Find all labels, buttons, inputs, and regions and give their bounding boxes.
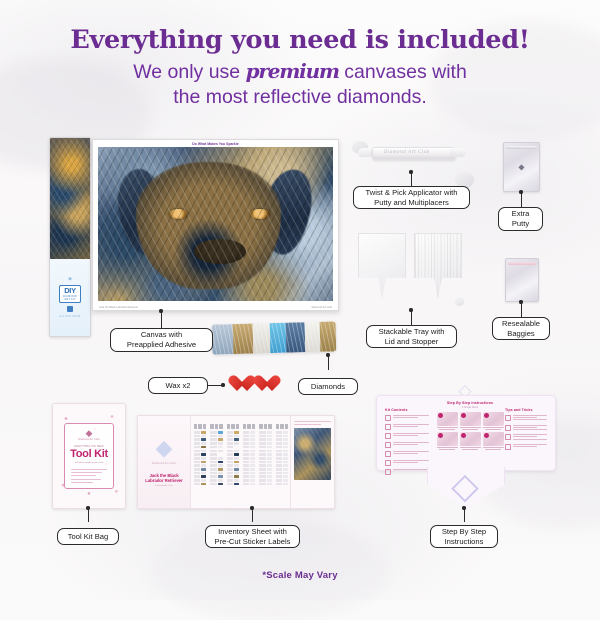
diamond-color-segment: [286, 322, 305, 352]
inventory-left-panel: ◆ Diamond Art Club Jack the Black Labrad…: [138, 416, 191, 508]
diamond-color-segment: [305, 322, 321, 352]
leader-line: [411, 172, 412, 186]
callout-canvas-adhesive[interactable]: Canvas with Preapplied Adhesive: [110, 328, 213, 352]
tool-kit-bag: ◆ Diamond Art Club EVERYTHING YOU NEED T…: [52, 403, 126, 509]
steps-column: Step By Step Instructions 6 Simple Steps: [435, 401, 505, 450]
leader-dot: [519, 190, 523, 194]
toolkit-brand: Diamond Art Club: [78, 439, 99, 441]
tip-item: [505, 434, 547, 441]
stackable-tray-lid: [358, 233, 406, 299]
leader-line: [88, 508, 89, 522]
leader-dot: [462, 506, 466, 510]
box-square-mark: [67, 306, 73, 312]
leader-dot: [221, 383, 225, 387]
tips-column: Tips and Tricks: [505, 408, 547, 450]
subheadline-text-after: canvases with: [339, 61, 467, 83]
toolkit-label: ◆ Diamond Art Club EVERYTHING YOU NEED T…: [64, 423, 114, 489]
diamond-color-segment: [212, 324, 234, 355]
canvas-footer-left: Jack the Black Labrador Retriever: [99, 306, 138, 309]
inventory-color-grid: [194, 424, 288, 502]
inventory-brand: Diamond Art Club: [152, 462, 176, 465]
step-item: [483, 412, 504, 430]
baggie-zip-seal: [508, 262, 536, 265]
tip-item: [505, 425, 547, 432]
inventory-column: [276, 424, 288, 502]
dog-eye-left: [169, 209, 189, 220]
tray-stopper: [455, 297, 464, 306]
canvas-footer-right: Diamond Art Club: [312, 306, 332, 309]
toolkit-text-lines: [71, 469, 107, 485]
kit-contents-item: [385, 442, 429, 448]
tray-grooved-body: [414, 233, 462, 299]
kit-contents-item: [385, 415, 429, 421]
callout-stackable-tray[interactable]: Stackable Tray with Lid and Stopper: [366, 325, 457, 348]
box-artwork: [50, 138, 90, 259]
baggie-zip-seal: [506, 146, 537, 149]
step-item: [460, 432, 481, 450]
leader-dot: [409, 308, 413, 312]
leader-line: [521, 302, 522, 317]
kit-contents-item: [385, 433, 429, 439]
subheadline-script-word: premium: [246, 60, 339, 84]
subheadline-line-1: We only use premium canvases with: [0, 60, 600, 84]
callout-tool-kit-bag[interactable]: Tool Kit Bag: [57, 528, 119, 545]
callout-diamonds[interactable]: Diamonds: [298, 378, 358, 395]
inventory-column: [243, 424, 255, 502]
leader-line: [521, 192, 522, 207]
dog-eye-right: [250, 209, 270, 220]
diamond-color-segment: [233, 324, 254, 355]
wax-heart-2: [253, 376, 272, 394]
inventory-artwork-sub: Diamond Art Club: [155, 485, 172, 487]
step-item: [460, 412, 481, 430]
step-item: [483, 432, 504, 450]
steps-title: Step By Step Instructions: [435, 401, 505, 405]
callout-resealable-baggies[interactable]: Resealable Baggies: [492, 317, 550, 340]
kit-contents-item: [385, 469, 429, 475]
diamond-color-segment: [270, 323, 287, 353]
extra-putty-baggie: ◆: [503, 142, 540, 192]
diamond-icon: ◆: [156, 437, 173, 459]
product-box-packaging: ◆ DIY DIAMOND ART KIT ALL INCLUSIVE: [49, 137, 91, 337]
box-brand-tiny: ALL INCLUSIVE: [59, 315, 80, 318]
steps-grid: [435, 412, 505, 450]
inventory-column: [210, 424, 222, 502]
diamond-icon: ◆: [86, 429, 93, 438]
callout-wax[interactable]: Wax x2: [148, 377, 208, 394]
inventory-column: [227, 424, 239, 502]
kit-contents-item: [385, 451, 429, 457]
scale-footnote: *Scale May Vary: [0, 570, 600, 581]
tips-title: Tips and Tricks: [505, 408, 547, 412]
diy-sub-2: ART KIT: [64, 298, 75, 301]
step-item: [437, 432, 458, 450]
leader-line: [161, 311, 162, 328]
diamond-color-segment: [253, 323, 271, 353]
diamond-icon: ◆: [68, 276, 72, 282]
kit-contents-title: Kit Contents: [385, 408, 429, 412]
instructions-sheet-body: Kit Contents Step By Step Instructions 6…: [376, 395, 556, 471]
tray-lid-body: [358, 233, 406, 299]
inventory-column: [259, 424, 271, 502]
tip-item: [505, 415, 547, 422]
kit-contents-item: [385, 424, 429, 430]
callout-applicator[interactable]: Twist & Pick Applicator with Putty and M…: [353, 186, 470, 209]
leader-line: [252, 508, 253, 522]
leader-dot: [86, 506, 90, 510]
callout-extra-putty[interactable]: Extra Putty: [498, 207, 543, 231]
leader-dot: [409, 170, 413, 174]
diamond-color-segment: [319, 321, 336, 351]
canvas-footer: Jack the Black Labrador Retriever Diamon…: [99, 306, 332, 309]
twist-pick-applicator-pen: Diamond Art Club: [358, 145, 466, 160]
steps-subtitle: 6 Simple Steps: [435, 406, 505, 409]
dog-face: [136, 162, 282, 288]
diamond-icon: ◆: [518, 163, 524, 172]
toolkit-title: Tool Kit: [70, 449, 108, 460]
dog-snout: [194, 239, 246, 264]
leader-line: [328, 355, 329, 370]
canvas-artwork-labrador: [98, 147, 333, 301]
inventory-column: [194, 424, 206, 502]
leader-dot: [326, 353, 330, 357]
box-label: ◆ DIY DIAMOND ART KIT ALL INCLUSIVE: [50, 259, 90, 336]
diamonds-drill-bag: [212, 321, 337, 354]
diamond-painting-canvas: Do What Makes You Sparkle Jack the Black…: [92, 139, 339, 311]
leader-dot: [519, 300, 523, 304]
subheadline-text-before: We only use: [133, 61, 245, 83]
callout-inventory-sheet[interactable]: Inventory Sheet with Pre-Cut Sticker Lab…: [205, 525, 300, 548]
pen-brand-script: Diamond Art Club: [384, 150, 430, 155]
leader-dot: [250, 506, 254, 510]
page-headline: Everything you need is included!: [0, 25, 600, 55]
tip-item: [505, 444, 547, 450]
canvas-header-caption: Do What Makes You Sparkle: [93, 142, 338, 146]
dog-ear-left: [113, 166, 169, 258]
kit-contents-item: [385, 460, 429, 466]
dog-ear-right: [258, 166, 316, 258]
pen-tip-right: [450, 148, 466, 158]
leader-line: [464, 508, 465, 522]
inventory-sheet: ◆ Diamond Art Club Jack the Black Labrad…: [137, 415, 335, 509]
kit-contents-column: Kit Contents: [385, 408, 429, 475]
stackable-tray-grooved: [414, 233, 462, 299]
diamond-outline-icon: ◇: [442, 467, 488, 505]
inventory-artwork-thumbnail: [294, 428, 331, 480]
wax-heart-1: [228, 376, 247, 394]
leader-dot: [159, 309, 163, 313]
diy-title: DIY: [64, 287, 76, 295]
subheadline-line-2: the most reflective diamonds.: [0, 86, 600, 109]
infographic-page: Everything you need is included! We only…: [0, 0, 600, 600]
step-item: [437, 412, 458, 430]
toolkit-subtitle: Includes everything you need: [75, 462, 103, 464]
diy-badge: DIY DIAMOND ART KIT: [59, 285, 81, 303]
resealable-baggie: [505, 258, 539, 302]
step-by-step-instructions-sheet: ◇ Kit Contents Step By Step Instructions…: [376, 395, 554, 507]
inventory-artwork-title: Jack the Black Labrador Retriever: [145, 473, 183, 484]
inventory-right-panel: [290, 416, 334, 508]
callout-instructions[interactable]: Step By Step Instructions: [430, 525, 498, 548]
leader-line: [411, 310, 412, 325]
